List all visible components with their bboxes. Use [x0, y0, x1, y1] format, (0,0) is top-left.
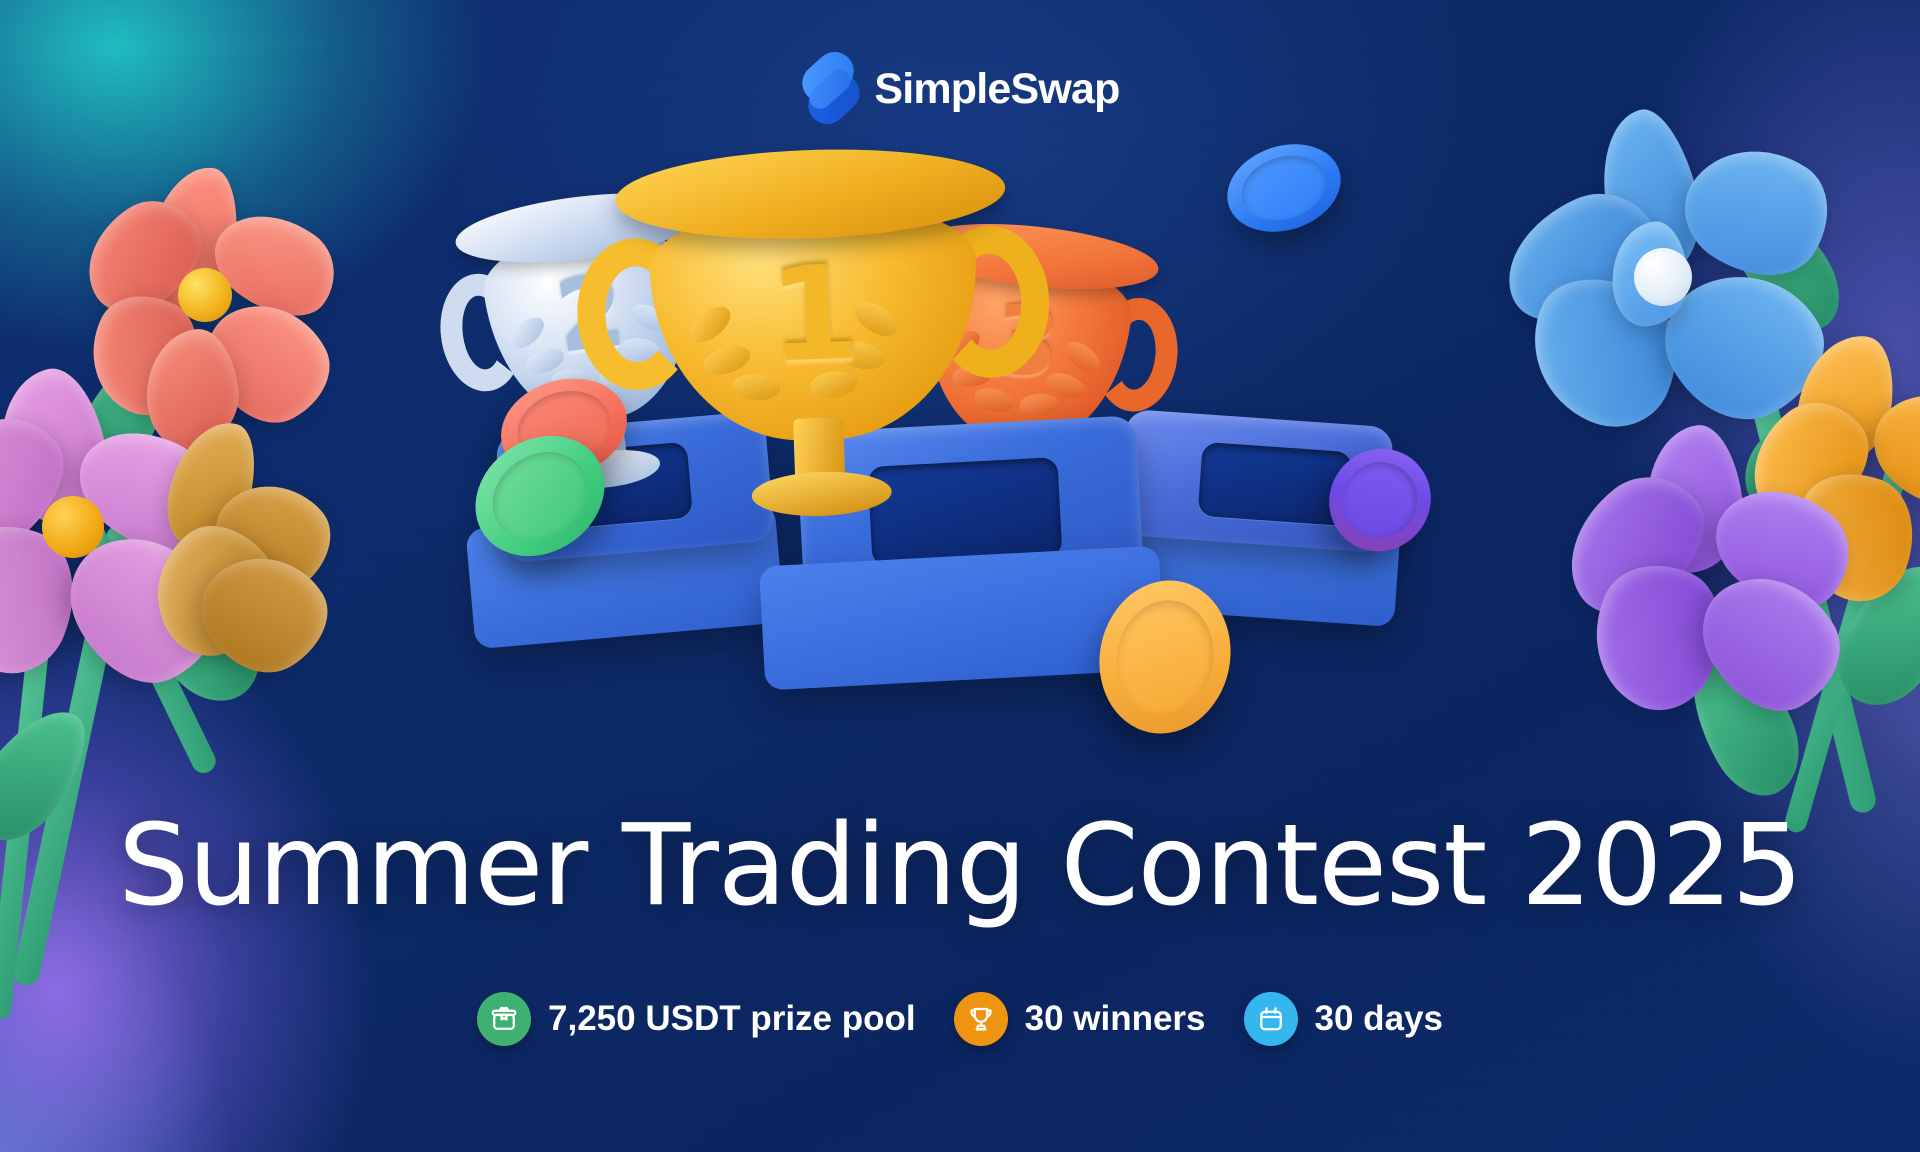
brand-logo[interactable]: SimpleSwap	[0, 58, 1920, 120]
stat-label: 7,250 USDT prize pool	[548, 999, 916, 1039]
promo-banner: 2 3	[0, 0, 1920, 1152]
brand-name: SimpleSwap	[874, 65, 1119, 114]
simpleswap-logo-mark-icon	[800, 58, 856, 120]
trophy-first-place: 1	[614, 143, 1016, 516]
stat-label: 30 days	[1315, 999, 1443, 1039]
page-title: Summer Trading Contest 2025	[0, 810, 1920, 922]
calendar-icon	[1244, 992, 1298, 1046]
trophy-illustration: 2 3	[0, 0, 1920, 820]
trophy-rank-number: 1	[725, 235, 904, 393]
trophy-icon	[954, 992, 1008, 1046]
stat-prize-pool: 7,250 USDT prize pool	[477, 992, 916, 1046]
gift-icon	[477, 992, 531, 1046]
stat-winners: 30 winners	[954, 992, 1206, 1046]
stat-label: 30 winners	[1025, 999, 1206, 1039]
stat-duration: 30 days	[1244, 992, 1443, 1046]
blue-coin	[1216, 130, 1352, 246]
stats-row: 7,250 USDT prize pool 30 winners	[0, 992, 1920, 1046]
